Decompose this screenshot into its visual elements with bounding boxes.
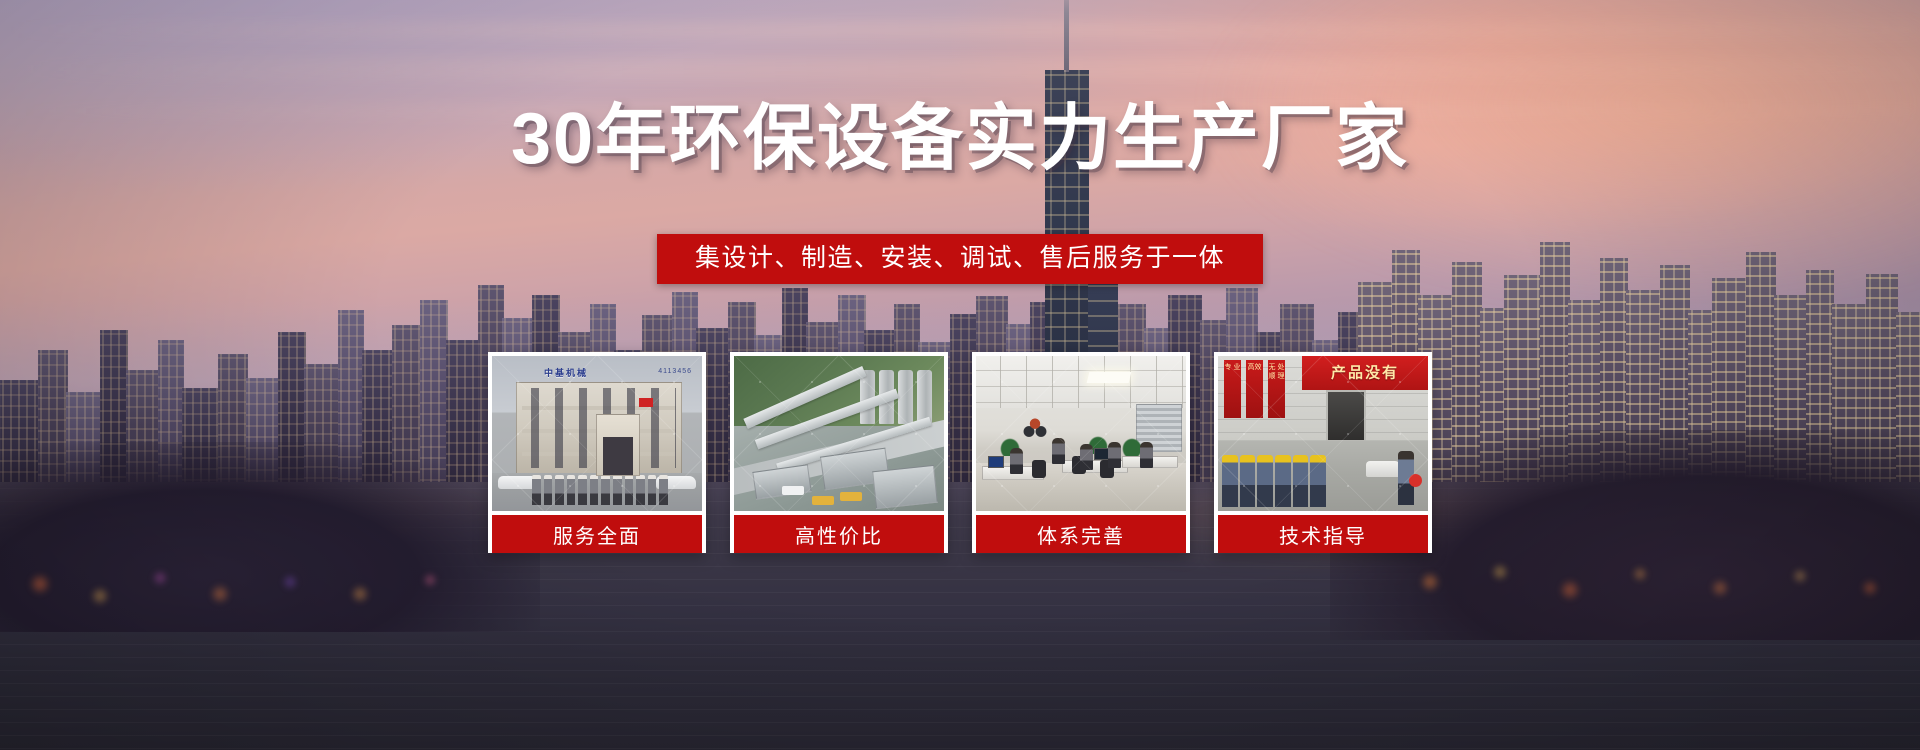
feature-card-label-text: 体系完善 [1037,520,1125,549]
vertical-banner-text: 高效 [1246,360,1263,418]
feature-card-label-text: 技术指导 [1279,520,1367,549]
building-sign-secondary-text: 4113456 [658,368,692,375]
feature-card-label: 体系完善 [976,515,1186,553]
hero-banner: 30年环保设备实力生产厂家 集设计、制造、安装、调试、售后服务于一体 中基机械 … [0,0,1920,750]
red-helmet-icon [1409,474,1422,487]
workshop-banner-text: 产品没有 [1331,362,1399,383]
banner-subtitle-bar: 集设计、制造、安装、调试、售后服务于一体 [657,234,1263,284]
feature-card-row: 中基机械 4113456 服务全面 [488,352,1432,553]
aerial-factory-photo [734,356,944,511]
building-sign-text: 中基机械 [544,366,588,379]
banner-headline: 30年环保设备实力生产厂家 [0,100,1920,178]
vertical-banner-text: 专 业 [1224,360,1241,418]
feature-card-label: 高性价比 [734,515,944,553]
feature-card-label-text: 服务全面 [553,520,641,549]
vertical-banner-text: 无 处 顺 理 [1268,360,1285,418]
feature-card[interactable]: 体系完善 [972,352,1190,553]
feature-card-label: 技术指导 [1218,515,1428,553]
feature-card-label: 服务全面 [492,515,702,553]
flag-icon [639,398,653,407]
office-team-photo [976,356,1186,511]
banner-content: 30年环保设备实力生产厂家 集设计、制造、安装、调试、售后服务于一体 中基机械 … [0,0,1920,750]
banner-subtitle-text: 集设计、制造、安装、调试、售后服务于一体 [695,242,1225,274]
feature-card-label-text: 高性价比 [795,520,883,549]
feature-card[interactable]: 产品没有 专 业 高效 无 处 顺 理 技术指导 [1214,352,1432,553]
workshop-crew-photo: 产品没有 专 业 高效 无 处 顺 理 [1218,356,1428,511]
feature-card[interactable]: 中基机械 4113456 服务全面 [488,352,706,553]
feature-card[interactable]: 高性价比 [730,352,948,553]
workshop-banner: 产品没有 [1302,356,1428,390]
company-headquarters-photo: 中基机械 4113456 [492,356,702,511]
